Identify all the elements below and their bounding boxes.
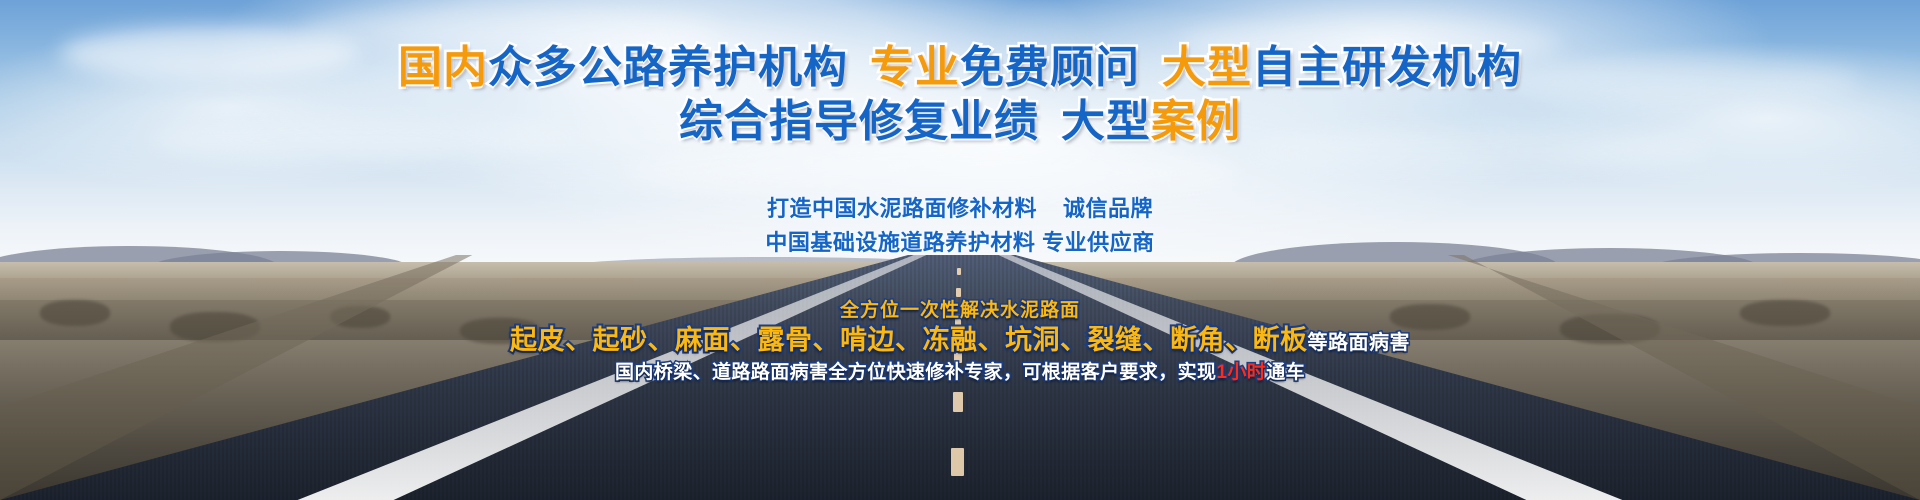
subhead-line-2: 中国基础设施道路养护材料 专业供应商 xyxy=(0,226,1920,259)
headline-line-1: 国内众多公路养护机构专业免费顾问大型自主研发机构 xyxy=(0,44,1920,92)
subhead-infra-text: 中国基础设施道路养护材料 xyxy=(765,230,1035,255)
headline-seg-zonghe: 综合指导修复业绩 xyxy=(679,97,1039,146)
center-dash xyxy=(951,448,964,476)
center-dash xyxy=(957,268,961,275)
subhead-line-1: 打造中国水泥路面修补材料诚信品牌 xyxy=(0,192,1920,225)
bottom-open-traffic-text: 通车 xyxy=(1266,362,1305,383)
headline-seg-zhongduo: 众多公路养护机构 xyxy=(488,43,848,92)
headline-seg-mianfei: 免费顾问 xyxy=(960,43,1140,92)
headline-line-2: 综合指导修复业绩大型案例 xyxy=(0,98,1920,146)
bottom-defects-suffix: 等路面病害 xyxy=(1308,332,1411,354)
headline-seg-zhuanye: 专业 xyxy=(870,43,960,92)
subhead-supplier-text: 专业供应商 xyxy=(1042,230,1155,255)
center-dash xyxy=(953,392,963,412)
headline-seg-daxing2: 大型 xyxy=(1061,97,1151,146)
headline-seg-guonei: 国内 xyxy=(398,43,488,92)
promo-banner: 国内众多公路养护机构专业免费顾问大型自主研发机构 综合指导修复业绩大型案例 打造… xyxy=(0,0,1920,500)
subhead-material-text: 打造中国水泥路面修补材料 xyxy=(767,196,1037,221)
headline-seg-daxing: 大型 xyxy=(1162,43,1252,92)
bottom-hour-highlight: 1小时 xyxy=(1216,362,1266,383)
subhead-brand-text: 诚信品牌 xyxy=(1063,196,1153,221)
bottom-expert-text: 国内桥梁、道路路面病害全方位快速修补专家，可根据客户要求，实现 xyxy=(615,362,1216,383)
cloud-shape xyxy=(620,150,1240,196)
bottom-line-1: 起皮、起砂、麻面、露骨、啃边、冻融、坑洞、裂缝、断角、断板等路面病害 xyxy=(0,318,1920,357)
headline-seg-zizhu: 自主研发机构 xyxy=(1252,43,1522,92)
bottom-line-2: 国内桥梁、道路路面病害全方位快速修补专家，可根据客户要求，实现1小时通车 xyxy=(0,357,1920,384)
headline-seg-anli: 案例 xyxy=(1151,97,1241,146)
bottom-defects-text: 起皮、起砂、麻面、露骨、啃边、冻融、坑洞、裂缝、断角、断板 xyxy=(510,325,1308,355)
